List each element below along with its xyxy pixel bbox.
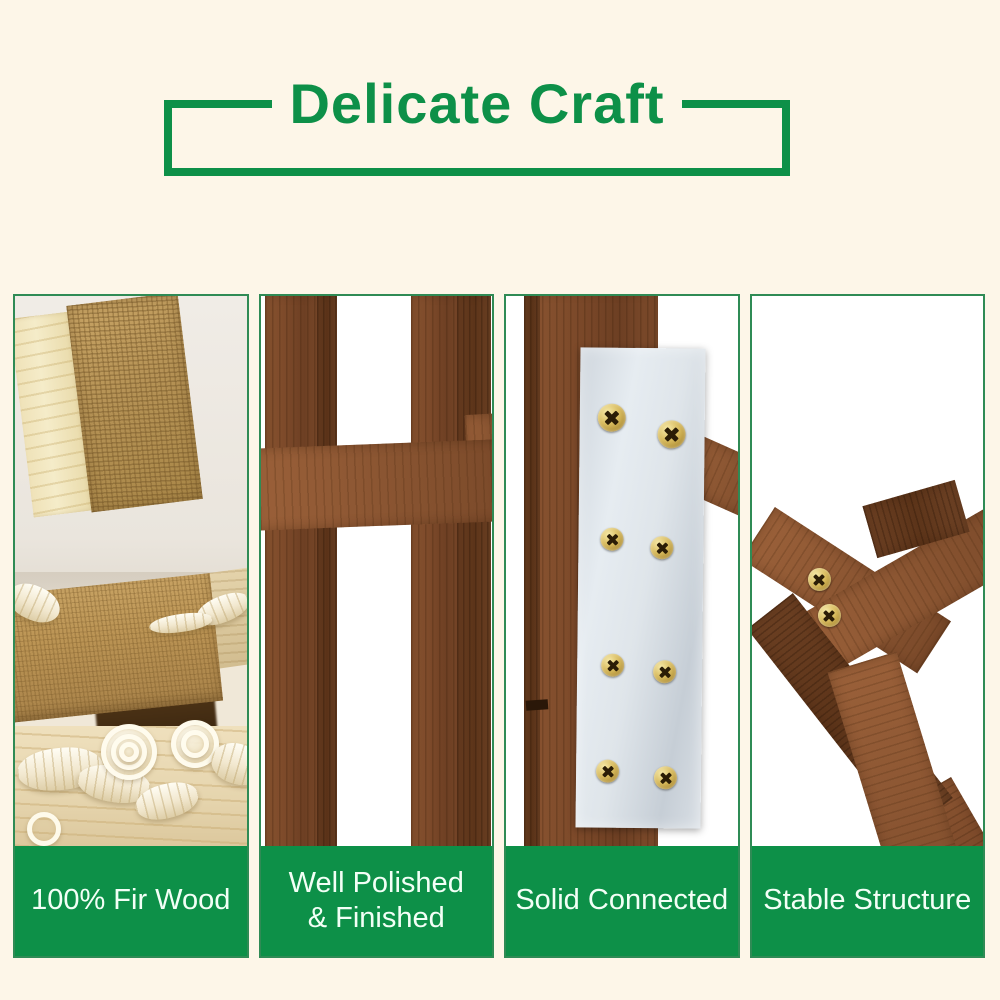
brass-screw xyxy=(654,766,677,789)
product-feature-graphic: Delicate Craft xyxy=(0,0,1000,1000)
polished-wood-frame-photo xyxy=(261,296,493,846)
wood-post-edge xyxy=(524,296,540,846)
wood-post-right-edge xyxy=(457,296,491,846)
panel-caption: Well Polished & Finished xyxy=(261,846,493,956)
brass-screw xyxy=(818,604,841,627)
crossed-legs-structure-photo xyxy=(752,296,984,846)
brass-screw xyxy=(596,760,619,783)
brass-screw xyxy=(650,536,673,559)
brass-screw xyxy=(598,404,626,432)
header-frame-top-left-stub xyxy=(164,100,272,108)
fir-wood-block-and-shavings-photo xyxy=(15,296,247,846)
brass-screw xyxy=(600,528,623,551)
brass-screw xyxy=(657,420,685,448)
brass-screw xyxy=(808,568,831,591)
wood-block-closeup xyxy=(15,299,201,518)
metal-bracket-plate xyxy=(575,347,705,828)
page-title: Delicate Craft xyxy=(275,76,678,132)
wood-post-left xyxy=(265,296,321,846)
wood-joint-seam xyxy=(526,699,549,711)
wood-post-left-edge xyxy=(317,296,337,846)
feature-panel-fir-wood[interactable]: 100% Fir Wood xyxy=(13,294,249,958)
header-banner: Delicate Craft xyxy=(164,100,790,176)
feature-panel-solid-connected[interactable]: Solid Connected xyxy=(504,294,740,958)
header-frame-top-right-stub xyxy=(682,100,790,108)
feature-panel-well-polished[interactable]: Well Polished & Finished xyxy=(259,294,495,958)
brass-screw xyxy=(653,660,676,683)
wood-crossbar-upper xyxy=(261,439,493,531)
panel-caption: Stable Structure xyxy=(752,846,984,956)
feature-panel-row: 100% Fir Wood Well Polished & Finished xyxy=(13,294,985,958)
wood-post-right xyxy=(411,296,463,846)
feature-panel-stable-structure[interactable]: Stable Structure xyxy=(750,294,986,958)
panel-caption: Solid Connected xyxy=(506,846,738,956)
metal-bracket-connection-photo xyxy=(506,296,738,846)
brass-screw xyxy=(601,654,624,677)
panel-caption: 100% Fir Wood xyxy=(15,846,247,956)
